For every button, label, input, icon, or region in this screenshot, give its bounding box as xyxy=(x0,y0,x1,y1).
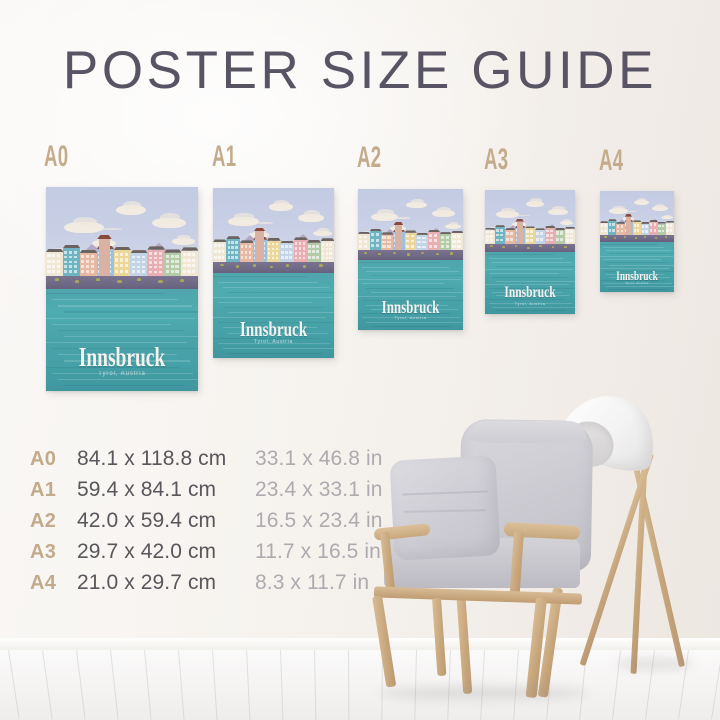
poster-window xyxy=(654,229,656,232)
poster-window xyxy=(526,239,529,241)
poster-window xyxy=(276,257,279,260)
poster-window xyxy=(536,238,539,241)
poster-artwork-title: Innsbruck xyxy=(67,344,176,371)
poster-window xyxy=(192,253,195,256)
poster-foliage-tuft xyxy=(421,252,424,254)
poster-window xyxy=(376,244,379,247)
poster-window xyxy=(500,239,503,242)
poster-window xyxy=(47,260,50,263)
poster-window xyxy=(149,252,152,254)
poster-window xyxy=(359,240,362,243)
poster-water-ripple xyxy=(492,277,567,278)
poster-window xyxy=(218,250,221,253)
poster-window xyxy=(666,229,668,232)
poster-window xyxy=(187,253,190,256)
poster-water-ripple xyxy=(223,348,334,349)
poster-water-ripple xyxy=(606,250,671,251)
poster-window xyxy=(245,251,248,254)
poster-window xyxy=(621,230,623,233)
poster-window xyxy=(536,232,539,235)
poster-foliage-tuft xyxy=(527,247,530,249)
poster-window xyxy=(621,225,623,228)
poster-window xyxy=(530,239,533,241)
size-cm: 84.1 x 118.8 cm xyxy=(77,447,255,471)
poster-water-ripple xyxy=(600,256,673,257)
poster-cloud xyxy=(437,207,451,213)
poster-building xyxy=(46,252,63,277)
poster-window xyxy=(382,241,385,244)
poster-water-ripple xyxy=(485,269,573,270)
poster-building xyxy=(525,228,535,244)
poster-window xyxy=(308,256,311,259)
poster-window xyxy=(154,257,157,259)
poster-artwork: InnsbruckTyrol, Austria xyxy=(46,187,198,391)
poster-window xyxy=(241,245,244,248)
poster-window xyxy=(86,265,89,268)
poster-window xyxy=(642,225,644,228)
poster-window xyxy=(666,224,668,227)
poster-window xyxy=(69,251,72,254)
poster-window xyxy=(235,256,238,259)
throw-pillow xyxy=(389,455,500,560)
poster-water-ripple xyxy=(64,311,198,312)
poster-window xyxy=(52,265,55,268)
poster-window xyxy=(326,248,329,251)
poster-window xyxy=(371,239,374,242)
poster-window xyxy=(452,245,455,248)
poster-water-ripple xyxy=(58,305,192,306)
poster-window xyxy=(81,255,84,258)
poster-window xyxy=(159,257,162,259)
poster-window xyxy=(137,261,140,264)
poster-window xyxy=(326,252,329,255)
poster-building-roof xyxy=(428,230,440,232)
poster-building-roof xyxy=(321,238,334,241)
poster-window xyxy=(303,247,306,250)
poster-window xyxy=(496,239,499,242)
poster-cloud-wisp xyxy=(101,228,122,230)
poster-window xyxy=(159,261,162,263)
table-row: A0 84.1 x 118.8 cm 33.1 x 46.8 in xyxy=(30,447,383,478)
poster-window xyxy=(74,265,77,268)
table-row: A1 59.4 x 84.1 cm 23.4 x 33.1 in xyxy=(30,478,383,509)
poster-foliage-tuft xyxy=(286,264,289,267)
poster-window xyxy=(74,261,77,264)
poster-window xyxy=(166,270,169,273)
size-cm: 29.7 x 42.0 cm xyxy=(77,540,255,564)
poster-window xyxy=(295,247,298,250)
poster-window xyxy=(218,244,221,247)
poster-label-a2: A2 xyxy=(357,143,381,173)
poster-window xyxy=(69,256,72,259)
poster-window xyxy=(417,246,420,248)
poster-window xyxy=(235,246,238,249)
poster-window xyxy=(276,252,279,255)
poster-window xyxy=(171,270,174,273)
poster-window xyxy=(422,237,425,239)
poster-window xyxy=(452,240,455,243)
poster-window xyxy=(417,241,420,243)
poster-window xyxy=(214,256,217,259)
poster-window xyxy=(149,257,152,259)
poster-window xyxy=(486,239,489,241)
poster-a2[interactable]: InnsbruckTyrol, Austria xyxy=(358,189,463,330)
poster-window xyxy=(175,270,178,273)
poster-building xyxy=(130,253,147,276)
poster-window xyxy=(142,261,145,264)
poster-window xyxy=(441,241,444,244)
poster-artwork-title: Innsbruck xyxy=(230,319,317,340)
poster-water-ripple xyxy=(606,286,674,287)
poster-window xyxy=(64,256,67,259)
poster-window xyxy=(222,250,225,253)
poster-window xyxy=(510,232,513,235)
poster-building-roof xyxy=(565,227,575,229)
poster-window xyxy=(86,270,89,273)
poster-window xyxy=(249,251,252,254)
poster-building-roof xyxy=(666,221,674,223)
poster-water-ripple xyxy=(52,299,178,300)
poster-a0[interactable]: InnsbruckTyrol, Austria xyxy=(46,187,198,391)
poster-water-ripple xyxy=(603,259,661,260)
chair-leg-front-left xyxy=(372,595,396,687)
poster-window xyxy=(406,240,409,243)
floor-plank xyxy=(8,650,20,719)
poster-window xyxy=(617,225,619,228)
chair-back-top-curve xyxy=(468,421,586,443)
poster-window xyxy=(125,264,128,267)
poster-window xyxy=(506,232,509,235)
poster-water-ripple xyxy=(485,254,555,255)
poster-window xyxy=(137,266,140,269)
poster-artwork-title: Innsbruck xyxy=(498,285,563,301)
poster-window xyxy=(214,244,217,247)
poster-window xyxy=(566,239,569,241)
poster-artwork-subtitle: Tyrol, Austria xyxy=(213,340,334,345)
poster-window xyxy=(52,254,55,257)
poster-window xyxy=(312,250,315,253)
poster-window xyxy=(604,224,606,227)
poster-window xyxy=(364,240,367,243)
poster-building xyxy=(565,229,575,245)
poster-building xyxy=(485,230,495,245)
poster-window xyxy=(47,270,50,273)
poster-window xyxy=(91,260,94,263)
poster-window xyxy=(530,230,533,232)
poster-window xyxy=(645,230,647,233)
poster-window xyxy=(376,239,379,242)
poster-window xyxy=(166,265,169,268)
poster-window xyxy=(132,266,135,269)
poster-water-ripple xyxy=(46,293,165,294)
poster-water-ripple xyxy=(64,385,183,386)
poster-window xyxy=(500,234,503,237)
poster-window xyxy=(125,253,128,256)
poster-window xyxy=(662,225,664,228)
poster-building-roof xyxy=(147,246,164,249)
size-code: A1 xyxy=(30,479,77,502)
poster-building-roof xyxy=(451,231,463,233)
poster-window xyxy=(74,251,77,254)
poster-window xyxy=(64,261,67,264)
poster-window xyxy=(192,259,195,262)
poster-building xyxy=(63,248,80,277)
poster-building-roof xyxy=(525,226,535,228)
poster-window xyxy=(387,241,390,244)
poster-window xyxy=(183,270,186,273)
poster-window xyxy=(457,235,460,238)
poster-water-ripple xyxy=(366,322,463,323)
poster-foliage-tuft xyxy=(303,265,306,268)
poster-window xyxy=(192,264,195,267)
poster-window xyxy=(175,260,178,263)
poster-water-ripple xyxy=(496,310,566,311)
poster-window xyxy=(142,266,145,269)
poster-building xyxy=(616,224,625,236)
poster-building-roof xyxy=(608,219,617,221)
poster-window xyxy=(171,265,174,268)
poster-window xyxy=(609,223,611,226)
poster-window xyxy=(57,254,60,257)
poster-window xyxy=(382,236,385,239)
poster-window xyxy=(241,256,244,259)
poster-label-a1: A1 xyxy=(212,142,236,172)
poster-window xyxy=(670,229,672,232)
poster-window xyxy=(604,230,606,233)
poster-building-roof xyxy=(658,222,667,224)
chair-leg-front-mid xyxy=(432,598,446,676)
poster-building xyxy=(416,235,428,251)
chair-leg-back-left xyxy=(456,590,472,694)
poster-window xyxy=(308,245,311,248)
page-title: POSTER SIZE GUIDE xyxy=(0,40,720,101)
poster-window xyxy=(289,245,292,248)
poster-window xyxy=(183,253,186,256)
poster-cloud xyxy=(377,209,394,215)
poster-window xyxy=(510,238,513,241)
poster-foliage-tuft xyxy=(180,279,184,282)
size-in: 16.5 x 23.4 in xyxy=(255,509,383,533)
poster-window xyxy=(670,224,672,227)
poster-window xyxy=(490,231,493,233)
poster-window xyxy=(550,239,553,242)
poster-water-ripple xyxy=(371,326,453,327)
poster-window xyxy=(429,239,432,242)
poster-building xyxy=(666,223,674,236)
poster-cloud xyxy=(73,217,98,226)
poster-building xyxy=(381,235,393,251)
poster-window xyxy=(329,252,332,255)
poster-window xyxy=(417,237,420,239)
poster-window xyxy=(64,251,67,254)
poster-window xyxy=(322,252,325,255)
poster-building xyxy=(495,227,505,244)
poster-water-ripple xyxy=(496,281,575,282)
poster-window xyxy=(411,245,414,248)
poster-window xyxy=(268,243,271,246)
poster-window xyxy=(303,242,306,245)
poster-a3[interactable]: InnsbruckTyrol, Austria xyxy=(485,190,575,314)
poster-building-roof xyxy=(649,220,658,222)
poster-window xyxy=(285,245,288,248)
poster-window xyxy=(64,265,67,268)
poster-water-ripple xyxy=(228,353,322,354)
poster-water-ripple xyxy=(46,318,195,319)
floor-plank xyxy=(348,650,349,720)
poster-water-ripple xyxy=(223,307,323,308)
poster-window xyxy=(276,248,279,251)
poster-water-ripple xyxy=(600,244,658,245)
poster-window xyxy=(506,238,509,241)
poster-building xyxy=(267,241,281,263)
poster-window xyxy=(486,235,489,237)
poster-window xyxy=(387,245,390,248)
poster-window xyxy=(132,261,135,264)
poster-window xyxy=(69,261,72,264)
poster-window xyxy=(149,261,152,263)
poster-window xyxy=(249,256,252,259)
poster-cloud xyxy=(411,199,424,205)
poster-window xyxy=(228,246,231,249)
poster-window xyxy=(222,244,225,247)
table-row: A4 21.0 x 29.7 cm 8.3 x 11.7 in xyxy=(30,571,383,602)
poster-window xyxy=(570,239,573,241)
poster-window xyxy=(235,251,238,254)
poster-building-roof xyxy=(405,230,417,232)
poster-foliage-tuft xyxy=(75,280,79,283)
poster-window xyxy=(452,235,455,238)
poster-window xyxy=(241,251,244,254)
poster-window xyxy=(91,270,94,273)
floor-plank xyxy=(144,650,152,720)
poster-window xyxy=(546,234,549,237)
poster-window xyxy=(406,245,409,248)
poster-window xyxy=(289,256,292,259)
poster-window xyxy=(115,253,118,256)
poster-water-ripple xyxy=(213,297,332,298)
poster-window xyxy=(166,260,169,263)
poster-window xyxy=(411,240,414,243)
size-code: A4 xyxy=(30,572,77,595)
poster-water-ripple xyxy=(489,258,564,259)
poster-water-ripple xyxy=(52,324,171,325)
size-in: 33.1 x 46.8 in xyxy=(255,447,383,471)
poster-window xyxy=(74,256,77,259)
size-in: 11.7 x 16.5 in xyxy=(255,540,381,564)
poster-window xyxy=(137,256,140,259)
poster-window xyxy=(329,248,332,251)
poster-window xyxy=(183,259,186,262)
poster-water-ripple xyxy=(489,273,559,274)
poster-building-roof xyxy=(545,226,555,228)
poster-window xyxy=(486,231,489,233)
poster-building xyxy=(226,239,240,263)
poster-window xyxy=(617,230,619,233)
poster-window xyxy=(364,245,367,248)
poster-building-roof xyxy=(485,228,495,230)
poster-foliage-tuft xyxy=(393,252,396,254)
poster-tower xyxy=(99,239,110,277)
poster-window xyxy=(81,270,84,273)
poster-window xyxy=(231,251,234,254)
poster-window xyxy=(47,254,50,257)
poster-building-roof xyxy=(130,250,147,253)
poster-window xyxy=(326,257,329,260)
poster-window xyxy=(175,255,178,258)
poster-window xyxy=(371,233,374,236)
poster-window xyxy=(429,234,432,237)
poster-building xyxy=(280,243,294,262)
poster-artwork-subtitle: Tyrol, Austria xyxy=(600,282,674,285)
poster-window xyxy=(91,255,94,258)
poster-building-roof xyxy=(535,228,545,230)
poster-window xyxy=(120,258,123,261)
poster-window xyxy=(52,270,55,273)
poster-window xyxy=(329,243,332,246)
poster-window xyxy=(570,230,573,232)
poster-building xyxy=(240,243,254,263)
poster-window xyxy=(120,264,123,267)
poster-building-roof xyxy=(240,240,254,243)
poster-foliage-tuft xyxy=(604,236,606,238)
poster-window xyxy=(634,224,636,227)
poster-building-roof xyxy=(280,241,294,244)
size-cm: 59.4 x 84.1 cm xyxy=(77,478,255,502)
floor-plank xyxy=(246,650,250,720)
poster-tower xyxy=(255,231,263,262)
poster-a1[interactable]: InnsbruckTyrol, Austria xyxy=(213,188,334,358)
poster-window xyxy=(159,266,162,268)
poster-building xyxy=(294,240,308,263)
floor-plank xyxy=(110,650,119,720)
poster-water-ripple xyxy=(64,336,198,337)
poster-window xyxy=(154,261,157,263)
poster-window xyxy=(299,257,302,260)
poster-tower xyxy=(395,225,402,251)
poster-window xyxy=(295,242,298,245)
poster-window xyxy=(446,236,449,239)
poster-a4[interactable]: InnsbruckTyrol, Austria xyxy=(600,191,674,292)
poster-window xyxy=(316,256,319,259)
poster-window xyxy=(371,244,374,247)
poster-tower xyxy=(626,217,631,236)
poster-window xyxy=(560,238,563,241)
poster-window xyxy=(218,256,221,259)
poster-window xyxy=(429,245,432,248)
poster-foliage-tuft xyxy=(236,265,239,268)
size-in: 8.3 x 11.7 in xyxy=(255,571,369,595)
poster-water-ripple xyxy=(606,262,667,263)
poster-window xyxy=(566,230,569,232)
poster-window xyxy=(125,270,128,273)
floor-plank xyxy=(42,650,53,719)
poster-window xyxy=(159,271,162,273)
poster-window xyxy=(490,239,493,241)
poster-artwork-title: Innsbruck xyxy=(373,298,449,316)
poster-foliage-tuft xyxy=(117,280,121,283)
poster-window xyxy=(149,266,152,268)
poster-building-roof xyxy=(381,232,393,234)
poster-window xyxy=(303,257,306,260)
poster-water-ripple xyxy=(609,253,674,254)
poster-building-roof xyxy=(63,245,80,248)
poster-window xyxy=(268,248,271,251)
poster-building-roof xyxy=(181,247,198,250)
poster-window xyxy=(658,225,660,228)
poster-window xyxy=(637,229,639,232)
poster-window xyxy=(57,265,60,268)
poster-building xyxy=(181,251,198,277)
